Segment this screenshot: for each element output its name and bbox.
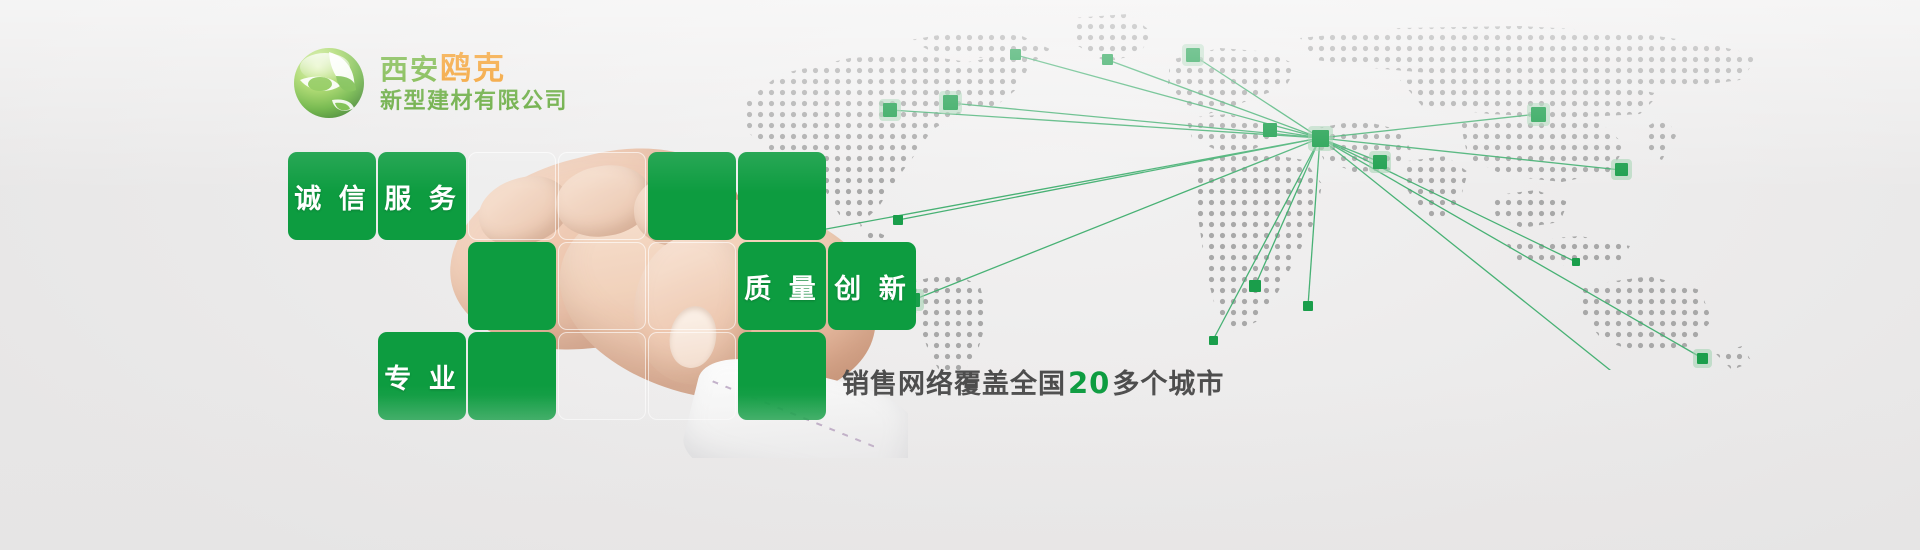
hero-banner: 诚 信 服 务 质 量 创 新 专 业 (0, 0, 1920, 550)
logo-subtitle: 新型建材有限公司 (380, 91, 568, 113)
logo-company-name: 西安鸥克 (380, 54, 568, 85)
tile-grid: 诚 信 服 务 质 量 创 新 专 业 (288, 148, 908, 448)
tile-glass (558, 242, 646, 330)
tile-glass (558, 152, 646, 240)
tagline-suffix: 多个城市 (1112, 369, 1224, 400)
tile-label: 服 务 (384, 177, 459, 216)
value-tile-fuwu[interactable]: 服 务 (378, 152, 466, 240)
logo-city: 西安 (380, 53, 440, 86)
company-logo[interactable]: 西安鸥克 新型建材有限公司 (292, 46, 568, 120)
sales-network-tagline: 销售网络覆盖全国20多个城市 (842, 362, 1224, 401)
tile-glass (648, 332, 736, 420)
tile-accent (468, 332, 556, 420)
value-tile-zhiliang[interactable]: 质 量 (738, 242, 826, 330)
tile-accent (738, 152, 826, 240)
tile-accent (468, 242, 556, 330)
tagline-city-count: 20 (1066, 366, 1112, 400)
logo-text: 西安鸥克 新型建材有限公司 (380, 54, 568, 113)
tile-glass (648, 242, 736, 330)
tile-label: 专 业 (384, 357, 459, 396)
tile-accent (738, 332, 826, 420)
tile-label: 创 新 (834, 267, 909, 306)
value-tile-chengxin[interactable]: 诚 信 (288, 152, 376, 240)
tile-glass (558, 332, 646, 420)
values-mosaic: 诚 信 服 务 质 量 创 新 专 业 (288, 148, 908, 448)
value-tile-chuangxin[interactable]: 创 新 (828, 242, 916, 330)
logo-brand: 鸥克 (440, 51, 506, 87)
tile-label: 诚 信 (294, 177, 369, 216)
tile-label: 质 量 (744, 267, 819, 306)
globe-leaf-logo-icon (292, 46, 366, 120)
tile-accent (648, 152, 736, 240)
tile-glass (468, 152, 556, 240)
tagline-prefix: 销售网络覆盖全国 (842, 369, 1066, 400)
value-tile-zhuanye[interactable]: 专 业 (378, 332, 466, 420)
